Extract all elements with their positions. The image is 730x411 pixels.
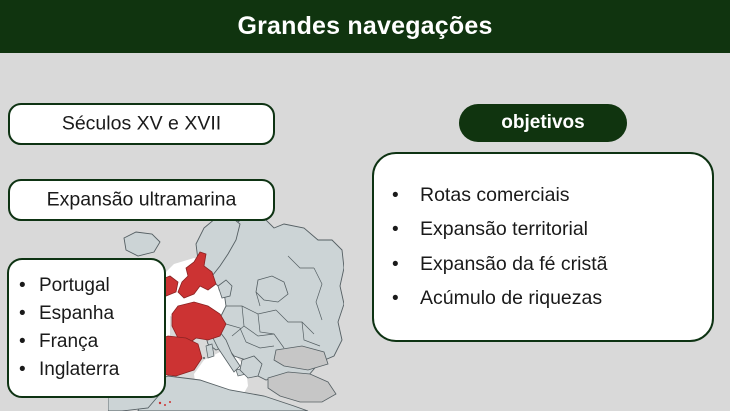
period-box[interactable]: Séculos XV e XVII: [8, 103, 275, 145]
list-item[interactable]: • Expansão territorial: [392, 213, 712, 248]
bullet-icon: •: [19, 360, 39, 379]
objective-label: Expansão territorial: [420, 220, 588, 240]
country-label: Portugal: [39, 272, 110, 300]
objective-label: Acúmulo de riquezas: [420, 289, 602, 309]
countries-box[interactable]: • Portugal • Espanha • França • Inglater…: [7, 258, 166, 398]
list-item[interactable]: • Espanha: [19, 300, 119, 328]
list-item[interactable]: • Expansão da fé cristã: [392, 247, 712, 282]
objective-label: Rotas comerciais: [420, 186, 570, 206]
bullet-icon: •: [392, 220, 420, 239]
list-item[interactable]: • Rotas comerciais: [392, 178, 712, 213]
period-box-label: Séculos XV e XVII: [10, 113, 273, 136]
objectives-pill-label: objetivos: [459, 112, 627, 134]
slide-canvas: Grandes navegações Séculos XV e XVII Exp…: [0, 0, 730, 411]
header-bar: Grandes navegações: [0, 0, 730, 53]
objective-label: Expansão da fé cristã: [420, 255, 608, 275]
map-island-dot: [169, 401, 171, 403]
list-item[interactable]: • França: [19, 328, 119, 356]
list-item[interactable]: • Portugal: [19, 272, 119, 300]
bullet-icon: •: [392, 255, 420, 274]
list-item[interactable]: • Acúmulo de riquezas: [392, 282, 712, 317]
objectives-pill[interactable]: objetivos: [459, 104, 627, 142]
bullet-icon: •: [19, 304, 39, 323]
map-land-anatolia: [268, 372, 336, 402]
country-label: Espanha: [39, 300, 114, 328]
map-land-iceland: [124, 232, 160, 256]
bullet-icon: •: [392, 186, 420, 205]
country-label: Inglaterra: [39, 356, 119, 384]
theme-box-label: Expansão ultramarina: [10, 189, 273, 212]
page-title: Grandes navegações: [0, 0, 730, 53]
list-item[interactable]: • Inglaterra: [19, 356, 119, 384]
bullet-icon: •: [19, 276, 39, 295]
theme-box[interactable]: Expansão ultramarina: [8, 179, 275, 221]
bullet-icon: •: [392, 289, 420, 308]
map-island-dot: [164, 404, 166, 406]
map-island-dot: [203, 357, 205, 359]
map-island-dot: [159, 402, 161, 404]
objectives-list: • Rotas comerciais • Expansão territoria…: [374, 178, 712, 316]
bullet-icon: •: [19, 332, 39, 351]
countries-list: • Portugal • Espanha • França • Inglater…: [9, 272, 119, 384]
country-label: França: [39, 328, 98, 356]
objectives-box[interactable]: • Rotas comerciais • Expansão territoria…: [372, 152, 714, 342]
